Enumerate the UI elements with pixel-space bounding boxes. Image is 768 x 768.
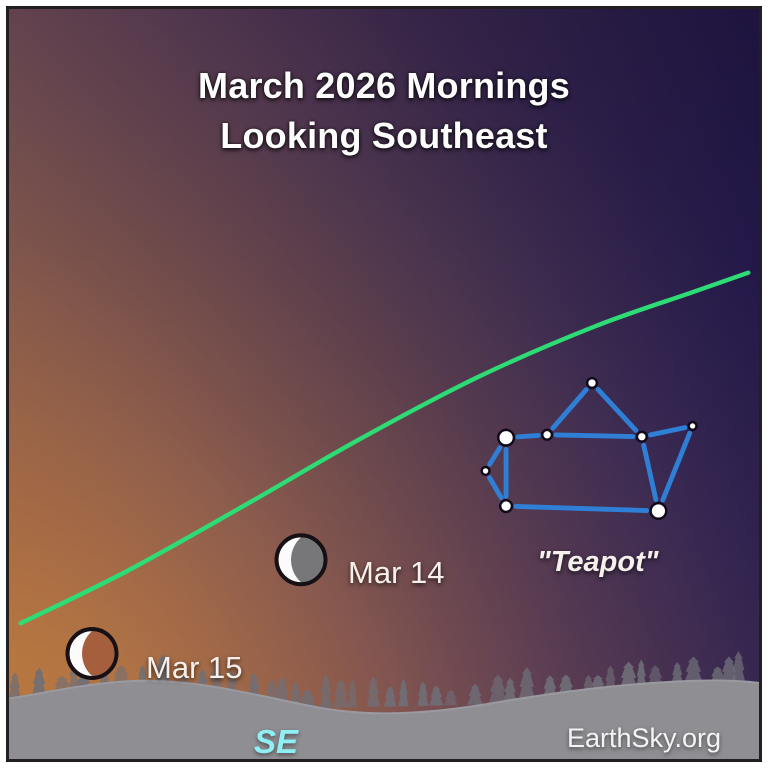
moon-date-label-mar14: Mar 14 <box>348 555 444 591</box>
compass-direction-label: SE <box>254 723 298 761</box>
sky-chart-scene: March 2026 Mornings Looking Southeast Ma… <box>0 0 768 768</box>
moon-marker-mar14[interactable] <box>277 535 326 584</box>
moon-date-label-mar15: Mar 15 <box>146 650 242 686</box>
page-title-line2: Looking Southeast <box>9 115 759 157</box>
chart-frame: March 2026 Mornings Looking Southeast Ma… <box>6 6 762 762</box>
page-title-line1: March 2026 Mornings <box>9 65 759 107</box>
brand-watermark: EarthSky.org <box>567 723 721 754</box>
moon-marker-mar15[interactable] <box>68 629 117 678</box>
teapot-asterism-label: "Teapot" <box>537 546 658 579</box>
